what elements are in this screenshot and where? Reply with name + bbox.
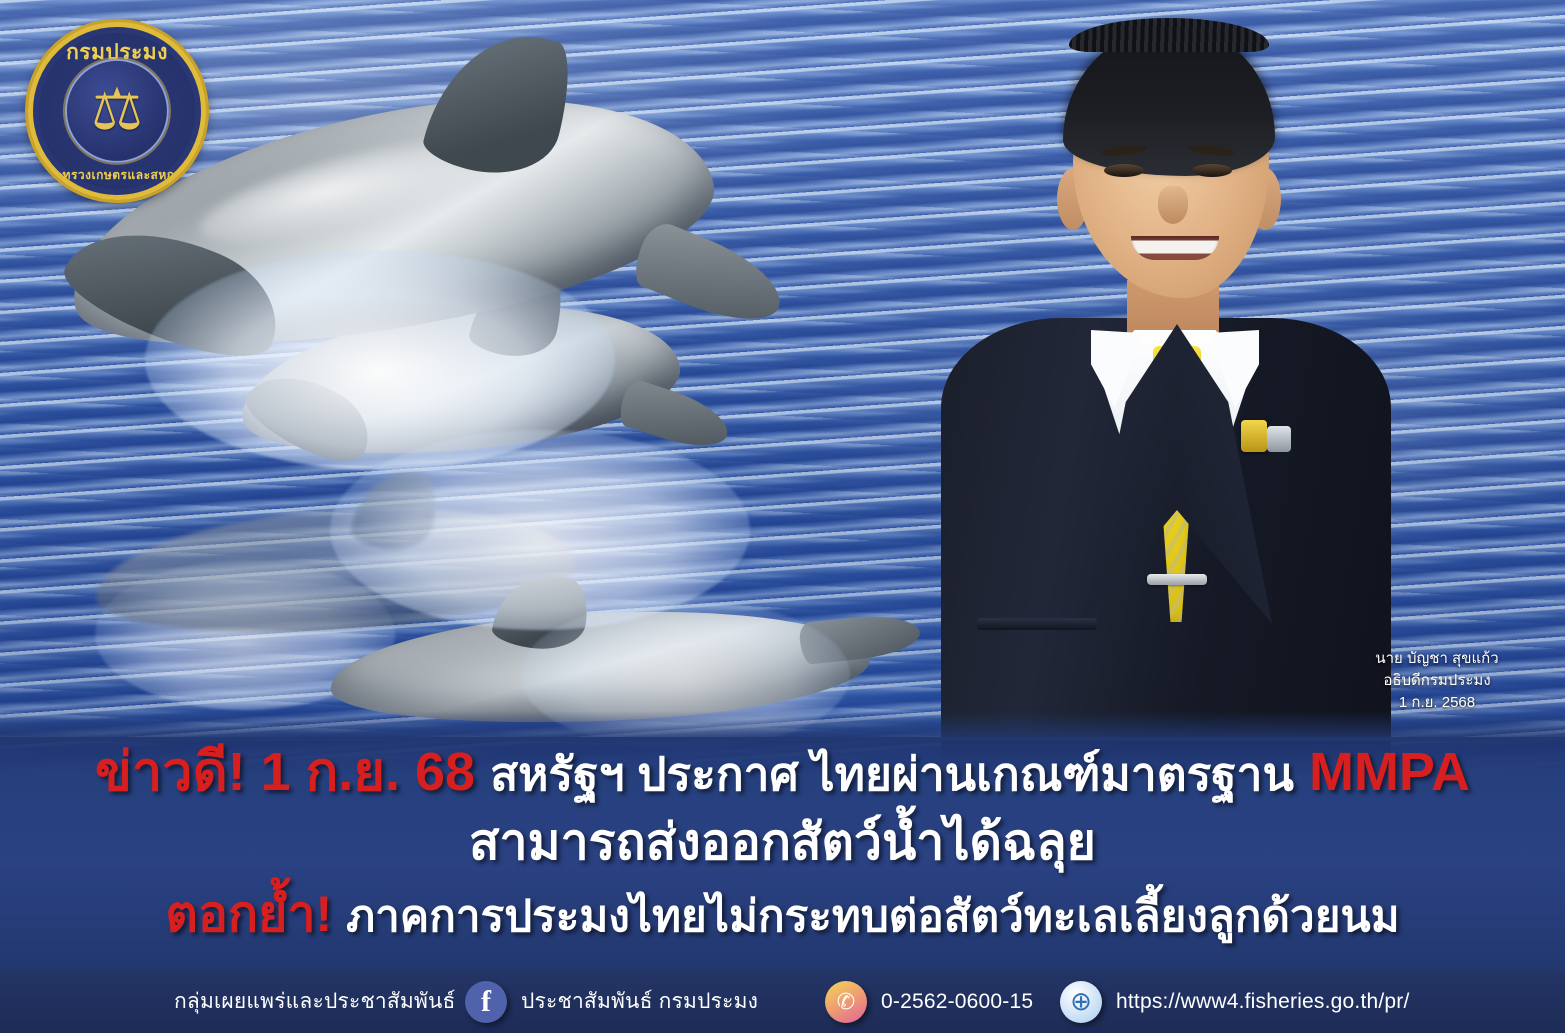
seal-bottom-text: กระทรวงเกษตรและสหกรณ์ xyxy=(33,166,201,185)
headline-line-2: สามารถส่งออกสัตว์น้ำได้ฉลุย xyxy=(0,817,1565,867)
headline-banner: ข่าวดี! 1 ก.ย. 68 สหรัฐฯ ประกาศ ไทยผ่านเ… xyxy=(0,737,1565,970)
lapel-pin-icon xyxy=(1241,420,1267,452)
portrait-caption: นาย บัญชา สุขแก้ว อธิบดีกรมประมง 1 ก.ย. … xyxy=(1337,648,1537,713)
jacket-pocket xyxy=(977,618,1097,630)
garuda-emblem-icon: ⚖ xyxy=(91,81,143,139)
facebook-icon[interactable]: f xyxy=(465,981,507,1023)
water-splash xyxy=(145,250,615,470)
headline-subtext: ภาคการประมงไทยไม่กระทบต่อสัตว์ทะเลเลี้ยง… xyxy=(346,892,1400,941)
headline-mmpa: MMPA xyxy=(1309,742,1470,802)
lapel-badge-icon xyxy=(1267,426,1291,452)
footer-item-department: กลุ่มเผยแพร่และประชาสัมพันธ์ xyxy=(118,985,456,1018)
footer-contact-bar: กรมประมง ⚖ กระทรวงเกษตรและสหกรณ์ กลุ่มเผ… xyxy=(0,970,1565,1033)
headline-emphasis: ตอกย้ำ! xyxy=(165,886,332,942)
nose xyxy=(1158,186,1188,224)
mouth xyxy=(1131,236,1219,260)
footer-item-website[interactable]: ⊕ https://www4.fisheries.go.th/pr/ xyxy=(1060,981,1410,1023)
footer-item-phone[interactable]: ✆ 0-2562-0600-15 xyxy=(825,981,1033,1023)
phone-icon[interactable]: ✆ xyxy=(825,981,867,1023)
eye-right xyxy=(1192,164,1232,177)
footer-item-facebook[interactable]: f ประชาสัมพันธ์ กรมประมง xyxy=(465,981,758,1023)
hair xyxy=(1063,26,1275,176)
footer-label-phone[interactable]: 0-2562-0600-15 xyxy=(881,990,1033,1014)
person-name: นาย บัญชา สุขแก้ว xyxy=(1337,648,1537,670)
footer-label-website[interactable]: https://www4.fisheries.go.th/pr/ xyxy=(1116,990,1410,1014)
person-title: อธิบดีกรมประมง xyxy=(1337,670,1537,692)
headline-main-text: สหรัฐฯ ประกาศ ไทยผ่านเกณฑ์มาตรฐาน xyxy=(490,748,1294,800)
headline-line-1: ข่าวดี! 1 ก.ย. 68 สหรัฐฯ ประกาศ ไทยผ่านเ… xyxy=(0,745,1565,799)
globe-icon[interactable]: ⊕ xyxy=(1060,981,1102,1023)
footer-label-department: กลุ่มเผยแพร่และประชาสัมพันธ์ xyxy=(174,985,456,1018)
announcement-date: 1 ก.ย. 2568 xyxy=(1337,692,1537,714)
headline-line-3: ตอกย้ำ! ภาคการประมงไทยไม่กระทบต่อสัตว์ทะ… xyxy=(0,889,1565,939)
headline-good-news: ข่าวดี! 1 ก.ย. 68 xyxy=(95,742,475,802)
fisheries-department-seal: กรมประมง ⚖ กระทรวงเกษตรและสหกรณ์ xyxy=(28,22,206,200)
footer-label-facebook[interactable]: ประชาสัมพันธ์ กรมประมง xyxy=(521,985,758,1018)
tie-clip xyxy=(1147,574,1207,585)
eye-left xyxy=(1104,164,1144,177)
poster-infographic: กรมประมง ⚖ กระทรวงเกษตรและสหกรณ์ นาย บัญ… xyxy=(0,0,1565,1033)
